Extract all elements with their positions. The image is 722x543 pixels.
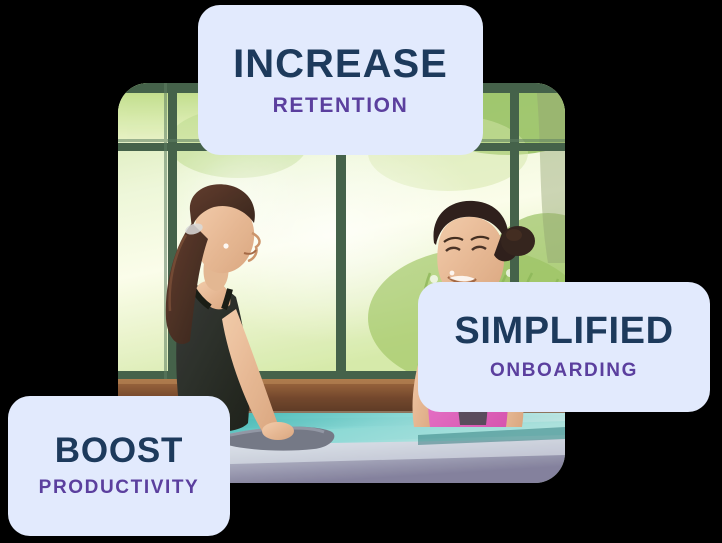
graphic-stage: INCREASE RETENTION SIMPLIFIED ONBOARDING… — [0, 0, 722, 543]
card-boost-subtitle: PRODUCTIVITY — [39, 478, 200, 499]
card-boost-productivity[interactable]: BOOST PRODUCTIVITY — [8, 396, 230, 536]
card-simplified-subtitle: ONBOARDING — [490, 361, 638, 382]
card-simplified-onboarding[interactable]: SIMPLIFIED ONBOARDING — [418, 282, 710, 412]
card-increase-retention[interactable]: INCREASE RETENTION — [198, 5, 483, 155]
card-boost-title: BOOST — [55, 433, 183, 470]
card-increase-title: INCREASE — [233, 43, 448, 85]
card-simplified-title: SIMPLIFIED — [454, 312, 673, 352]
card-increase-subtitle: RETENTION — [273, 94, 409, 117]
